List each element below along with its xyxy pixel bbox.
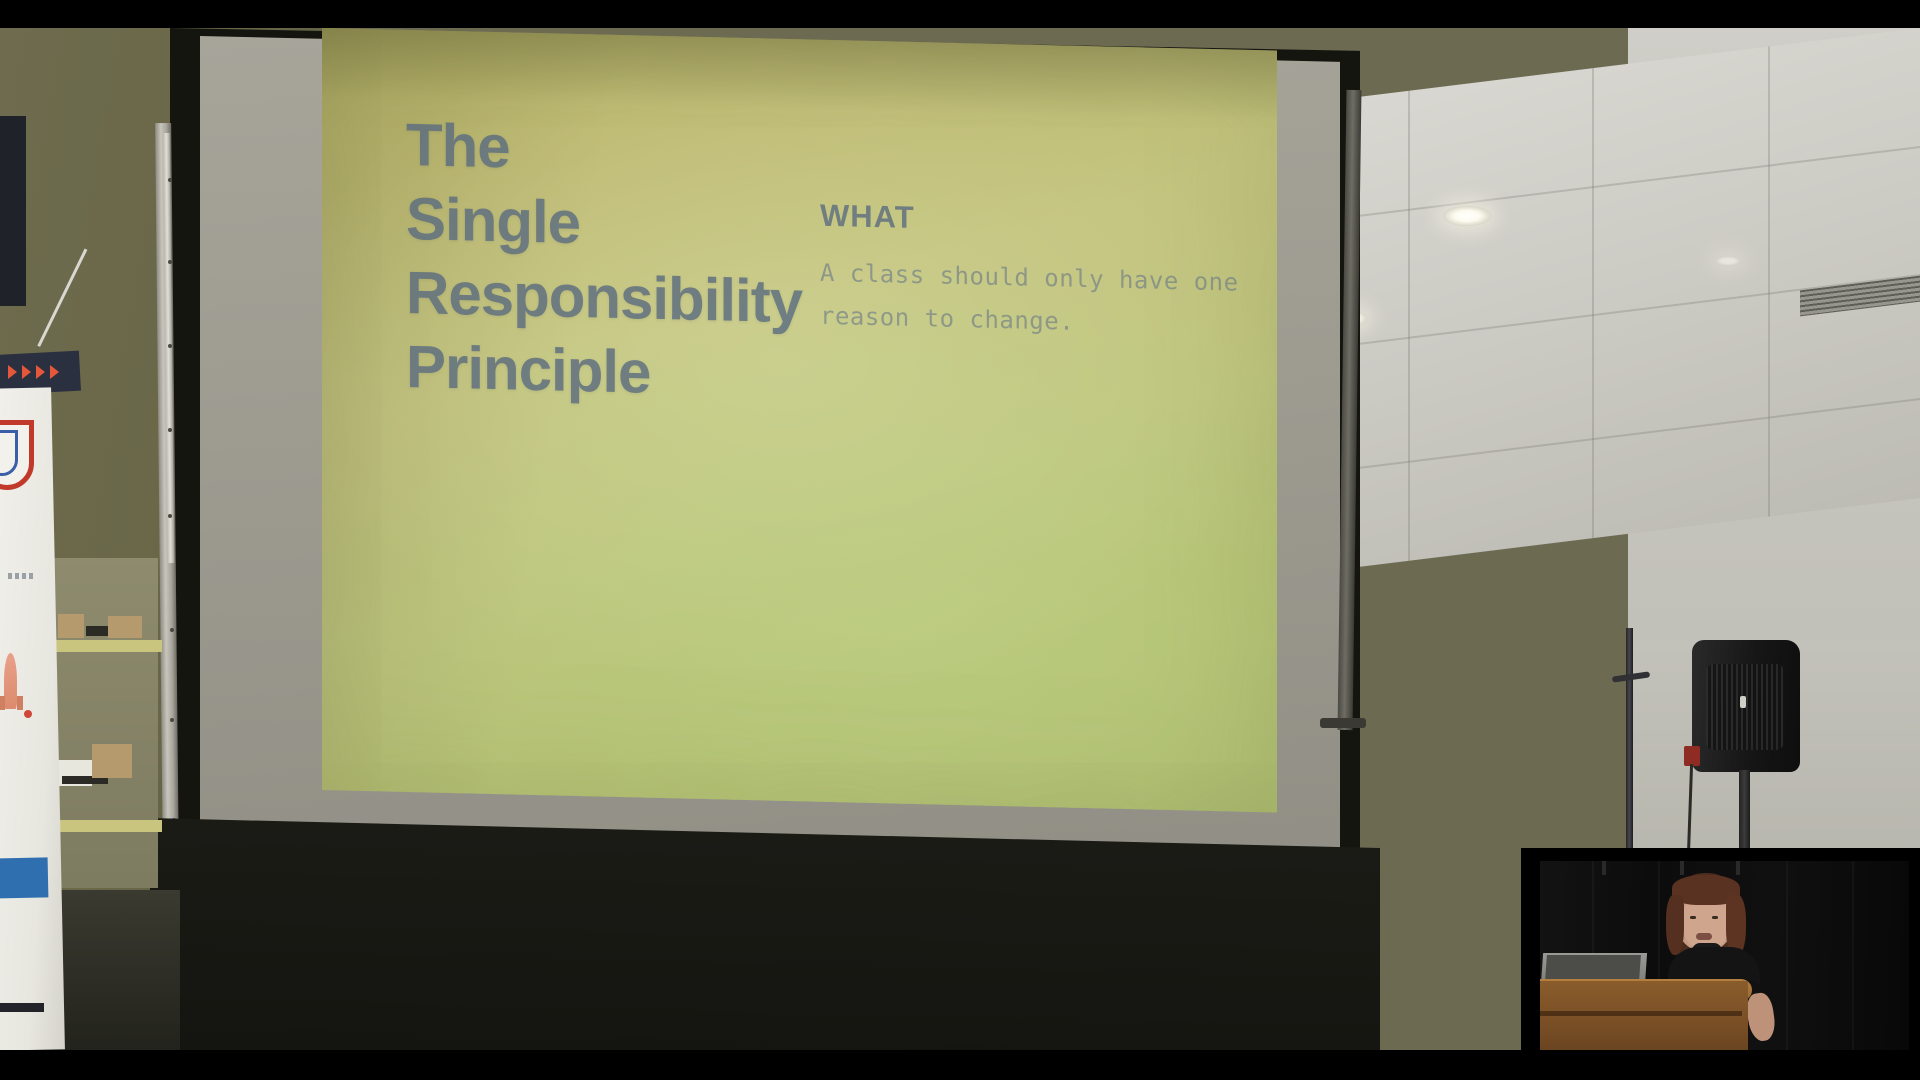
letterbox-bar-bottom: [0, 1050, 1920, 1080]
ceiling-downlight: [1443, 206, 1491, 226]
banner-dot: [24, 710, 32, 718]
pa-speaker-clamp: [1684, 746, 1700, 766]
projected-slide: The Single Responsibility Principle WHAT…: [322, 28, 1277, 813]
screen-skirt: [150, 818, 1380, 1050]
slide-title-line: Single: [406, 182, 836, 266]
cardboard-box: [58, 614, 84, 638]
ceiling-downlight: [1715, 256, 1741, 266]
letterbox-bar-top: [0, 0, 1920, 28]
banner-blue-band: [0, 857, 48, 898]
webcam-video: [1540, 861, 1909, 1073]
presenter-mouth: [1696, 933, 1712, 940]
slide-title-line: Principle: [406, 330, 836, 414]
speaker-webcam-inset[interactable]: [1521, 848, 1920, 1080]
slide-title-line: Responsibility: [406, 256, 836, 340]
podium-trim: [1540, 1011, 1742, 1016]
pa-speaker-led: [1740, 696, 1746, 708]
screenshot-root: The Single Responsibility Principle WHAT…: [0, 0, 1920, 1080]
slide-section-label: WHAT: [820, 198, 915, 236]
cardboard-box: [92, 744, 132, 778]
cardboard-box: [108, 616, 142, 638]
stand-pole: [1626, 628, 1633, 858]
slide-title: The Single Responsibility Principle: [406, 108, 836, 414]
screen-frame-foot-right: [1320, 718, 1366, 728]
slide-title-line: The: [406, 108, 836, 192]
dark-panel-left: [0, 116, 26, 306]
presenter-hair-left: [1666, 895, 1684, 955]
laptop-screen: [1545, 955, 1641, 981]
slide-body-text: A class should only have one reason to c…: [820, 252, 1290, 349]
banner-bottom-bar: [0, 1003, 44, 1012]
banner-text-squiggle: [8, 573, 36, 579]
banner-rocket-graphic: [4, 653, 17, 709]
